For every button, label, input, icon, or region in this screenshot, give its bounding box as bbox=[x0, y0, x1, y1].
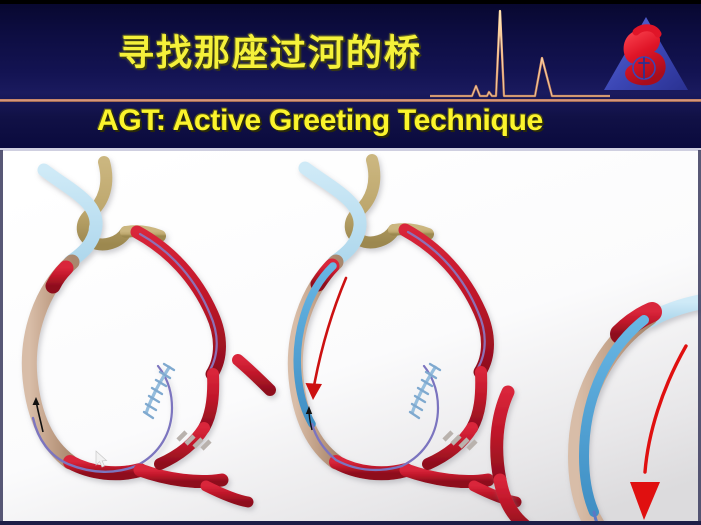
mouse-pointer-icon bbox=[94, 450, 108, 468]
slide-header: 寻找那座过河的桥 AGT: Active Greeting Technique bbox=[0, 0, 701, 150]
header-accent-line bbox=[0, 99, 701, 102]
slide-chinese-title: 寻找那座过河的桥 bbox=[118, 26, 538, 82]
content-left-edge bbox=[0, 150, 3, 525]
presentation-slide: 寻找那座过河的桥 AGT: Active Greeting Technique bbox=[0, 0, 701, 525]
header-top-band bbox=[0, 0, 701, 4]
heart-institute-logo-icon bbox=[600, 12, 692, 98]
slide-content-figure: 逆向导引钢丝 Ge JB, et al. Science Bulletin, 2… bbox=[0, 150, 701, 525]
coronary-angiogram-illustration bbox=[0, 150, 701, 525]
content-bottom-edge bbox=[0, 521, 701, 525]
content-top-edge bbox=[0, 148, 701, 151]
slide-english-title: AGT: Active Greeting Technique bbox=[0, 104, 640, 138]
